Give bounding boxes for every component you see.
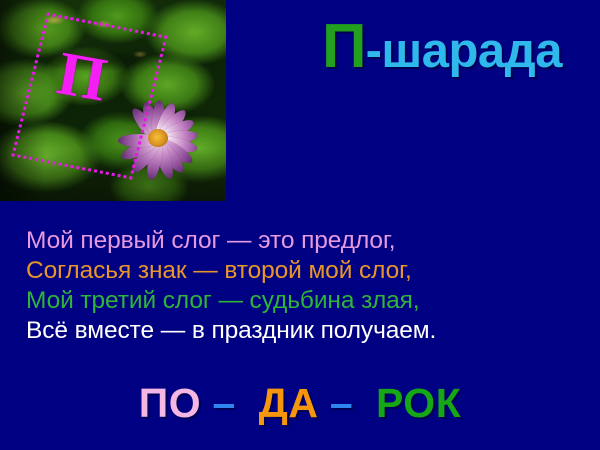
riddle-line-1: Мой первый слог — это предлог, bbox=[26, 226, 574, 256]
riddle-text: Мой первый слог — это предлог, Согласья … bbox=[26, 226, 574, 346]
presentation-slide: П П-шарада Мой первый слог — это предлог… bbox=[0, 0, 600, 450]
answer-separator-2: – bbox=[330, 380, 353, 426]
water-lily-photo: П bbox=[0, 0, 226, 201]
answer-row: ПО – ДА – РОК bbox=[0, 383, 600, 424]
flower-center bbox=[148, 129, 168, 147]
riddle-line-4: Всё вместе — в праздник получаем. bbox=[26, 316, 574, 346]
title-rest: -шарада bbox=[366, 24, 562, 78]
title-letter: П bbox=[322, 12, 366, 81]
riddle-line-2: Согласья знак — второй мой слог, bbox=[26, 256, 574, 286]
answer-part-2: ДА bbox=[259, 380, 319, 426]
answer-part-1: ПО bbox=[139, 380, 201, 426]
riddle-line-3: Мой третий слог — судьбина злая, bbox=[26, 286, 574, 316]
page-title: П-шарада bbox=[322, 16, 562, 78]
answer-part-3: РОК bbox=[376, 380, 461, 426]
answer-separator-1: – bbox=[213, 380, 236, 426]
